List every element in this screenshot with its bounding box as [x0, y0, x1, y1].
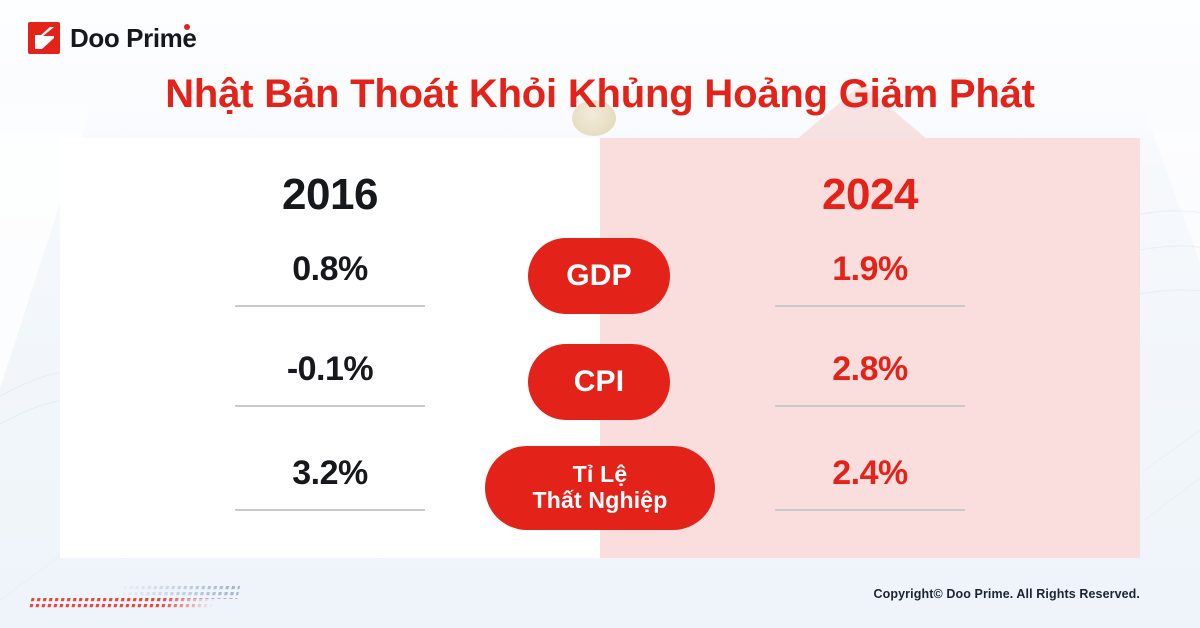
metric-pill-gdp: GDP: [528, 238, 670, 314]
metric-value-gdp-2016: 0.8%: [60, 250, 600, 289]
metric-pill-gdp-label: GDP: [566, 259, 632, 293]
metric-row-cpi-2024: 2.8%: [600, 350, 1140, 407]
metric-row-gdp-2016: 0.8%: [60, 250, 600, 307]
column-2024-year: 2024: [600, 170, 1140, 220]
metric-rule: [235, 509, 425, 511]
metric-pill-cpi-label: CPI: [574, 365, 625, 399]
metric-rule: [235, 405, 425, 407]
metric-pill-unemployment-line1: Tỉ Lệ: [573, 461, 628, 487]
metric-rule: [775, 305, 965, 307]
metric-value-gdp-2024: 1.9%: [600, 250, 1140, 289]
doo-prime-logo-icon: [28, 22, 60, 54]
metric-value-cpi-2016: -0.1%: [60, 350, 600, 389]
metric-rule: [235, 305, 425, 307]
metric-value-cpi-2024: 2.8%: [600, 350, 1140, 389]
metric-pill-unemployment-line2: Thất Nghiệp: [532, 487, 667, 513]
metric-pill-unemployment: Tỉ Lệ Thất Nghiệp: [485, 446, 715, 530]
page-title: Nhật Bản Thoát Khỏi Khủng Hoảng Giảm Phá…: [0, 72, 1200, 117]
column-2016-year: 2016: [60, 170, 600, 220]
metric-pill-unemployment-label: Tỉ Lệ Thất Nghiệp: [532, 462, 667, 514]
brand-logo[interactable]: Doo Prime: [28, 22, 196, 54]
metric-pill-cpi: CPI: [528, 344, 670, 420]
metric-rule: [775, 405, 965, 407]
metric-row-cpi-2016: -0.1%: [60, 350, 600, 407]
copyright-text: Copyright© Doo Prime. All Rights Reserve…: [874, 587, 1140, 601]
metric-row-gdp-2024: 1.9%: [600, 250, 1140, 307]
logo-i-dot-icon: [184, 24, 190, 30]
decorative-dot-pattern: [28, 586, 240, 612]
metric-rule: [775, 509, 965, 511]
brand-name: Doo Prime: [70, 23, 196, 54]
